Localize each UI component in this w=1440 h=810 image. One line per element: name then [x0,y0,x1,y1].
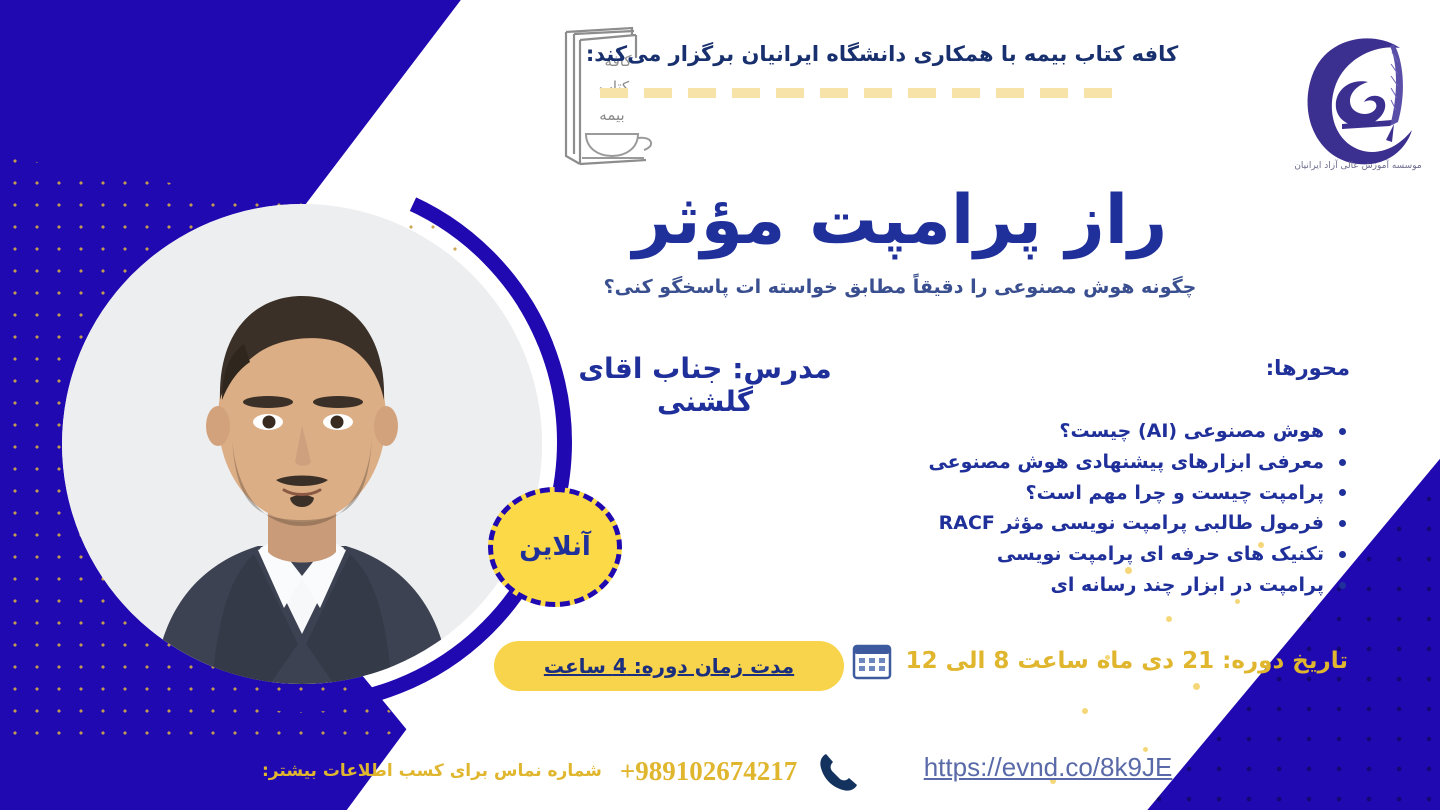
page-subtitle: چگونه هوش مصنوعی را دقیقاً مطابق خواسته … [550,276,1250,298]
list-item: پرامپت چیست و چرا مهم است؟ [910,478,1350,509]
page-title: راز پرامپت مؤثر [550,182,1250,260]
confetti-dot [1193,683,1200,690]
list-item: هوش مصنوعی (AI) چیست؟ [910,416,1350,447]
topics-heading: محورها: [1120,356,1350,380]
phone-number: +989102674217 [620,756,797,787]
phone-icon [815,748,861,794]
list-item: تکنیک های حرفه ای پرامپت نویسی [910,539,1350,570]
svg-text:موسسه آموزش عالی آزاد ایرانیان: موسسه آموزش عالی آزاد ایرانیان [1294,159,1422,171]
poster-canvas: کافه کتاب بیمه کافه کتاب بیمه با همکاری … [0,0,1440,810]
course-date-text: تاریخ دوره: 21 دی ماه ساعت 8 الی 12 [906,648,1348,674]
list-item: فرمول طالبی پرامپت نویسی مؤثر RACF [910,508,1350,539]
instructor-portrait [62,204,542,684]
event-kicker: کافه کتاب بیمه با همکاری دانشگاه ایرانیا… [522,42,1242,66]
instructor-name: مدرس: جناب اقای گلشنی [530,352,880,418]
contact-label: شماره نماس برای کسب اطلاعات بیشتر: [262,761,602,781]
confetti-dot [1166,616,1172,622]
online-badge: آنلاین [488,487,622,607]
topics-list: هوش مصنوعی (AI) چیست؟ معرفی ابزارهای پیش… [910,416,1350,601]
registration-link[interactable]: https://evnd.co/8k9JE [848,752,1248,783]
list-item: معرفی ابزارهای پیشنهادی هوش مصنوعی [910,447,1350,478]
university-e-quill-logo: موسسه آموزش عالی آزاد ایرانیان [1282,18,1432,188]
dashed-divider [600,88,1120,98]
contact-row: +989102674217 شماره نماس برای کسب اطلاعا… [262,748,861,794]
calendar-icon [852,642,892,680]
list-item: پرامپت در ابزار چند رسانه ای [910,570,1350,601]
svg-text:بیمه: بیمه [599,106,624,124]
confetti-dot [1082,708,1088,714]
course-date-row: تاریخ دوره: 21 دی ماه ساعت 8 الی 12 [852,642,1348,680]
duration-badge: مدت زمان دوره: 4 ساعت [494,641,844,691]
